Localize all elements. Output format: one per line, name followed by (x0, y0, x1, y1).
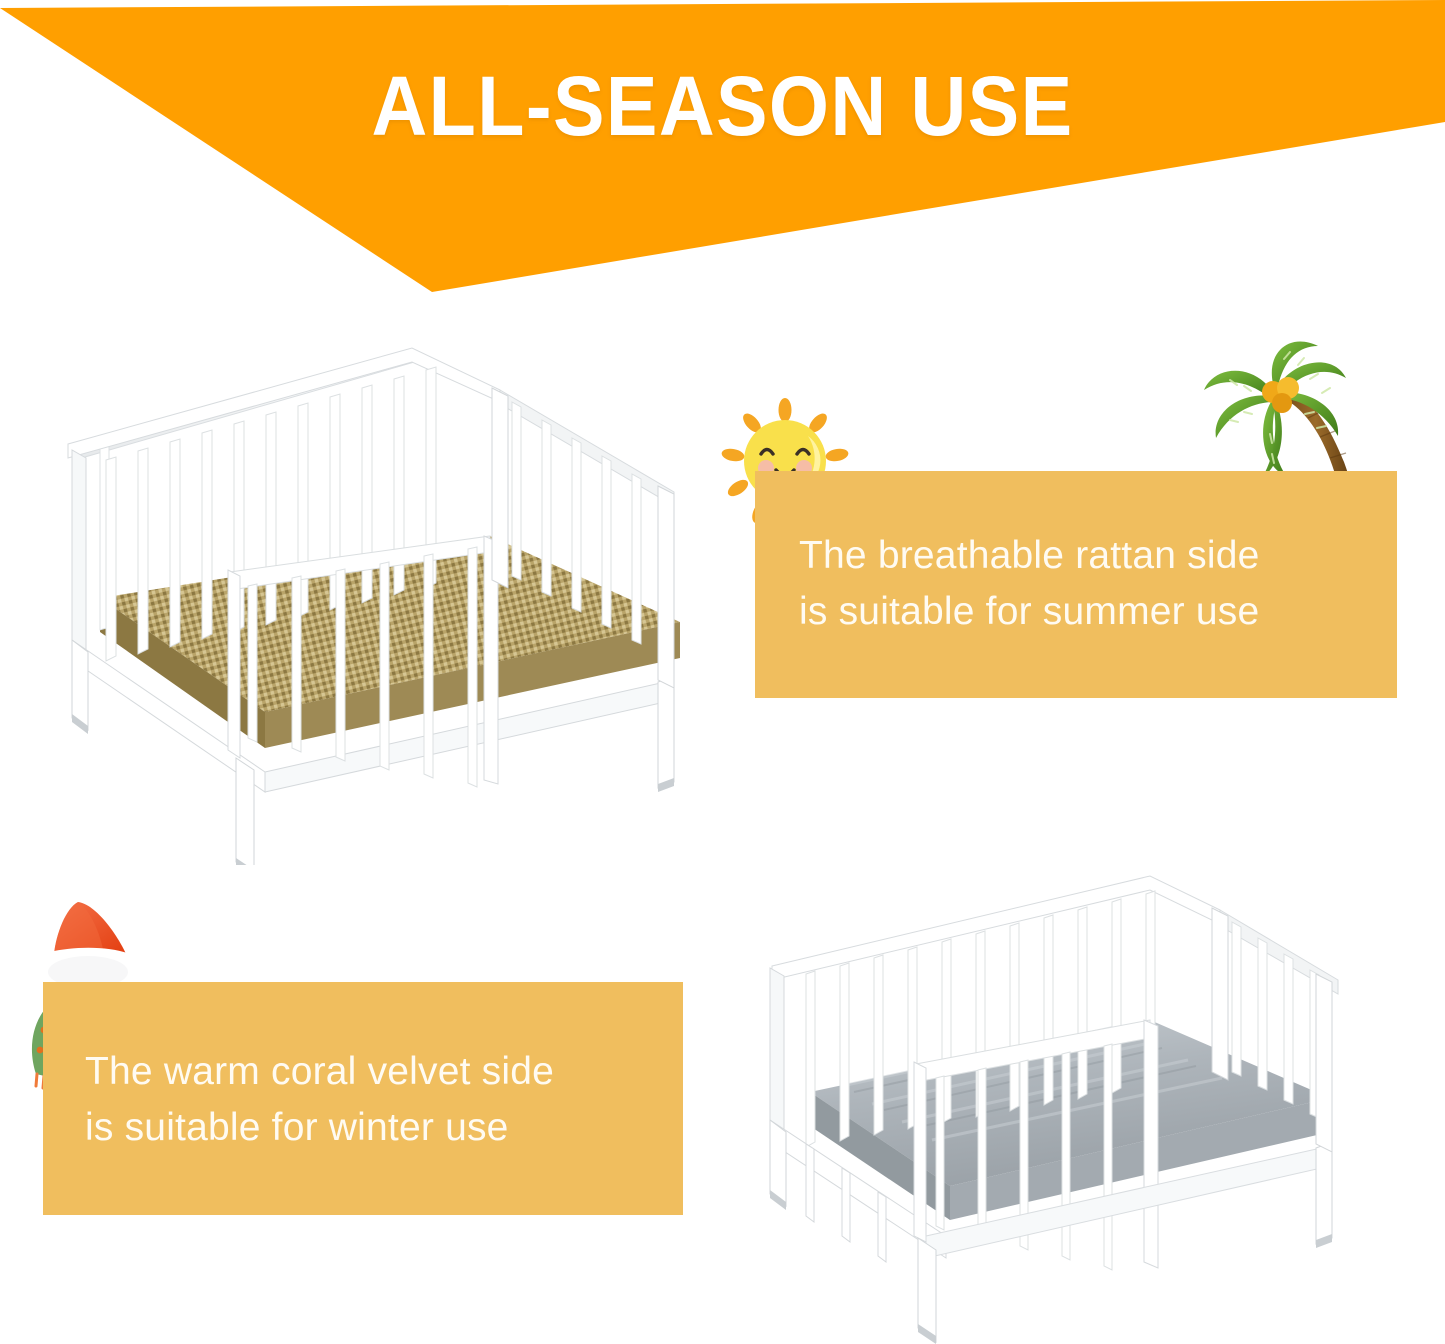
winter-caption-line-1: The warm coral velvet side (85, 1044, 554, 1100)
page-title: ALL-SEASON USE (58, 62, 1387, 150)
velvet-bed-top-rail (772, 876, 1338, 994)
rattan-pet-bed-image (60, 340, 725, 865)
summer-caption-box: The breathable rattan side is suitable f… (755, 471, 1397, 698)
winter-caption-text: The warm coral velvet side is suitable f… (85, 1044, 554, 1156)
winter-caption-line-2: is suitable for winter use (85, 1100, 554, 1156)
infographic-canvas: ALL-SEASON USE (0, 0, 1445, 1344)
summer-caption-line-2: is suitable for summer use (799, 584, 1260, 640)
winter-caption-box: The warm coral velvet side is suitable f… (43, 982, 683, 1215)
coral-velvet-pet-bed-image (750, 870, 1385, 1344)
summer-caption-text: The breathable rattan side is suitable f… (799, 528, 1260, 640)
bed-leg-caps (72, 714, 674, 865)
summer-caption-line-1: The breathable rattan side (799, 528, 1260, 584)
